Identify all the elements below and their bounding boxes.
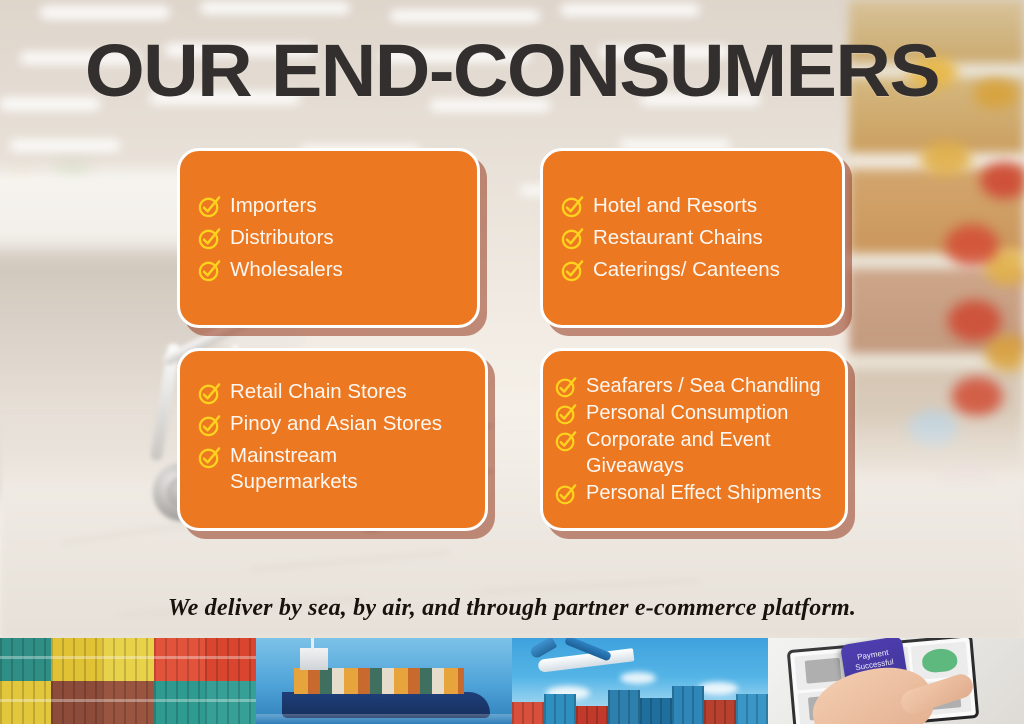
list-item: Corporate and Event Giveaways	[555, 427, 845, 479]
check-circle-icon	[555, 430, 577, 452]
check-circle-icon	[198, 414, 221, 437]
tagline: We deliver by sea, by air, and through p…	[0, 595, 1024, 622]
check-circle-icon	[198, 195, 221, 218]
check-circle-icon	[198, 259, 221, 282]
check-circle-icon	[198, 382, 221, 405]
list-item-label: Mainstream Supermarkets	[230, 443, 440, 495]
list-item-label: Personal Consumption	[586, 400, 788, 426]
list-item-label: Restaurant Chains	[593, 222, 763, 254]
list-item: Retail Chain Stores	[198, 379, 485, 405]
list-item: Restaurant Chains	[561, 222, 842, 254]
check-circle-icon	[555, 483, 577, 505]
shipping-containers-photo	[0, 638, 256, 724]
container-ship-photo	[256, 638, 512, 724]
list-item-label: Caterings/ Canteens	[593, 254, 780, 286]
list-item-label: Importers	[230, 190, 317, 222]
check-circle-icon	[198, 446, 221, 469]
list-item-label: Distributors	[230, 222, 334, 254]
personal-and-marine-card: Seafarers / Sea Chandling Personal Consu…	[540, 348, 848, 531]
trade-buyers-card: Importers Distributors W	[177, 148, 480, 328]
hospitality-card: Hotel and Resorts Restaurant Chains	[540, 148, 845, 328]
list-item-label: Retail Chain Stores	[230, 379, 407, 405]
check-circle-icon	[561, 195, 584, 218]
check-circle-icon	[198, 227, 221, 250]
slide: OUR END-CONSUMERS Importers	[0, 0, 1024, 724]
list-item: Wholesalers	[198, 254, 477, 286]
list-item: Hotel and Resorts	[561, 190, 842, 222]
list-item: Caterings/ Canteens	[561, 254, 842, 286]
check-circle-icon	[561, 227, 584, 250]
list-item-label: Wholesalers	[230, 254, 343, 286]
page-title: OUR END-CONSUMERS	[0, 34, 1024, 108]
list-item-label: Hotel and Resorts	[593, 190, 757, 222]
check-circle-icon	[555, 403, 577, 425]
list-item-label: Corporate and Event Giveaways	[586, 427, 784, 479]
list-item: Distributors	[198, 222, 477, 254]
list-item-label: Seafarers / Sea Chandling	[586, 373, 821, 399]
list-item: Mainstream Supermarkets	[198, 443, 485, 495]
check-circle-icon	[555, 376, 577, 398]
list-item: Importers	[198, 190, 477, 222]
list-item: Personal Effect Shipments	[555, 480, 845, 506]
ecommerce-payment-photo: Payment Successful	[768, 638, 1024, 724]
retail-stores-card: Retail Chain Stores Pinoy and Asian Stor…	[177, 348, 488, 531]
list-item: Personal Consumption	[555, 400, 845, 426]
list-item-label: Personal Effect Shipments	[586, 480, 821, 506]
photo-strip: Payment Successful	[0, 638, 1024, 724]
list-item-label: Pinoy and Asian Stores	[230, 411, 442, 437]
list-item: Seafarers / Sea Chandling	[555, 373, 845, 399]
air-freight-photo	[512, 638, 768, 724]
list-item: Pinoy and Asian Stores	[198, 411, 485, 437]
check-circle-icon	[561, 259, 584, 282]
